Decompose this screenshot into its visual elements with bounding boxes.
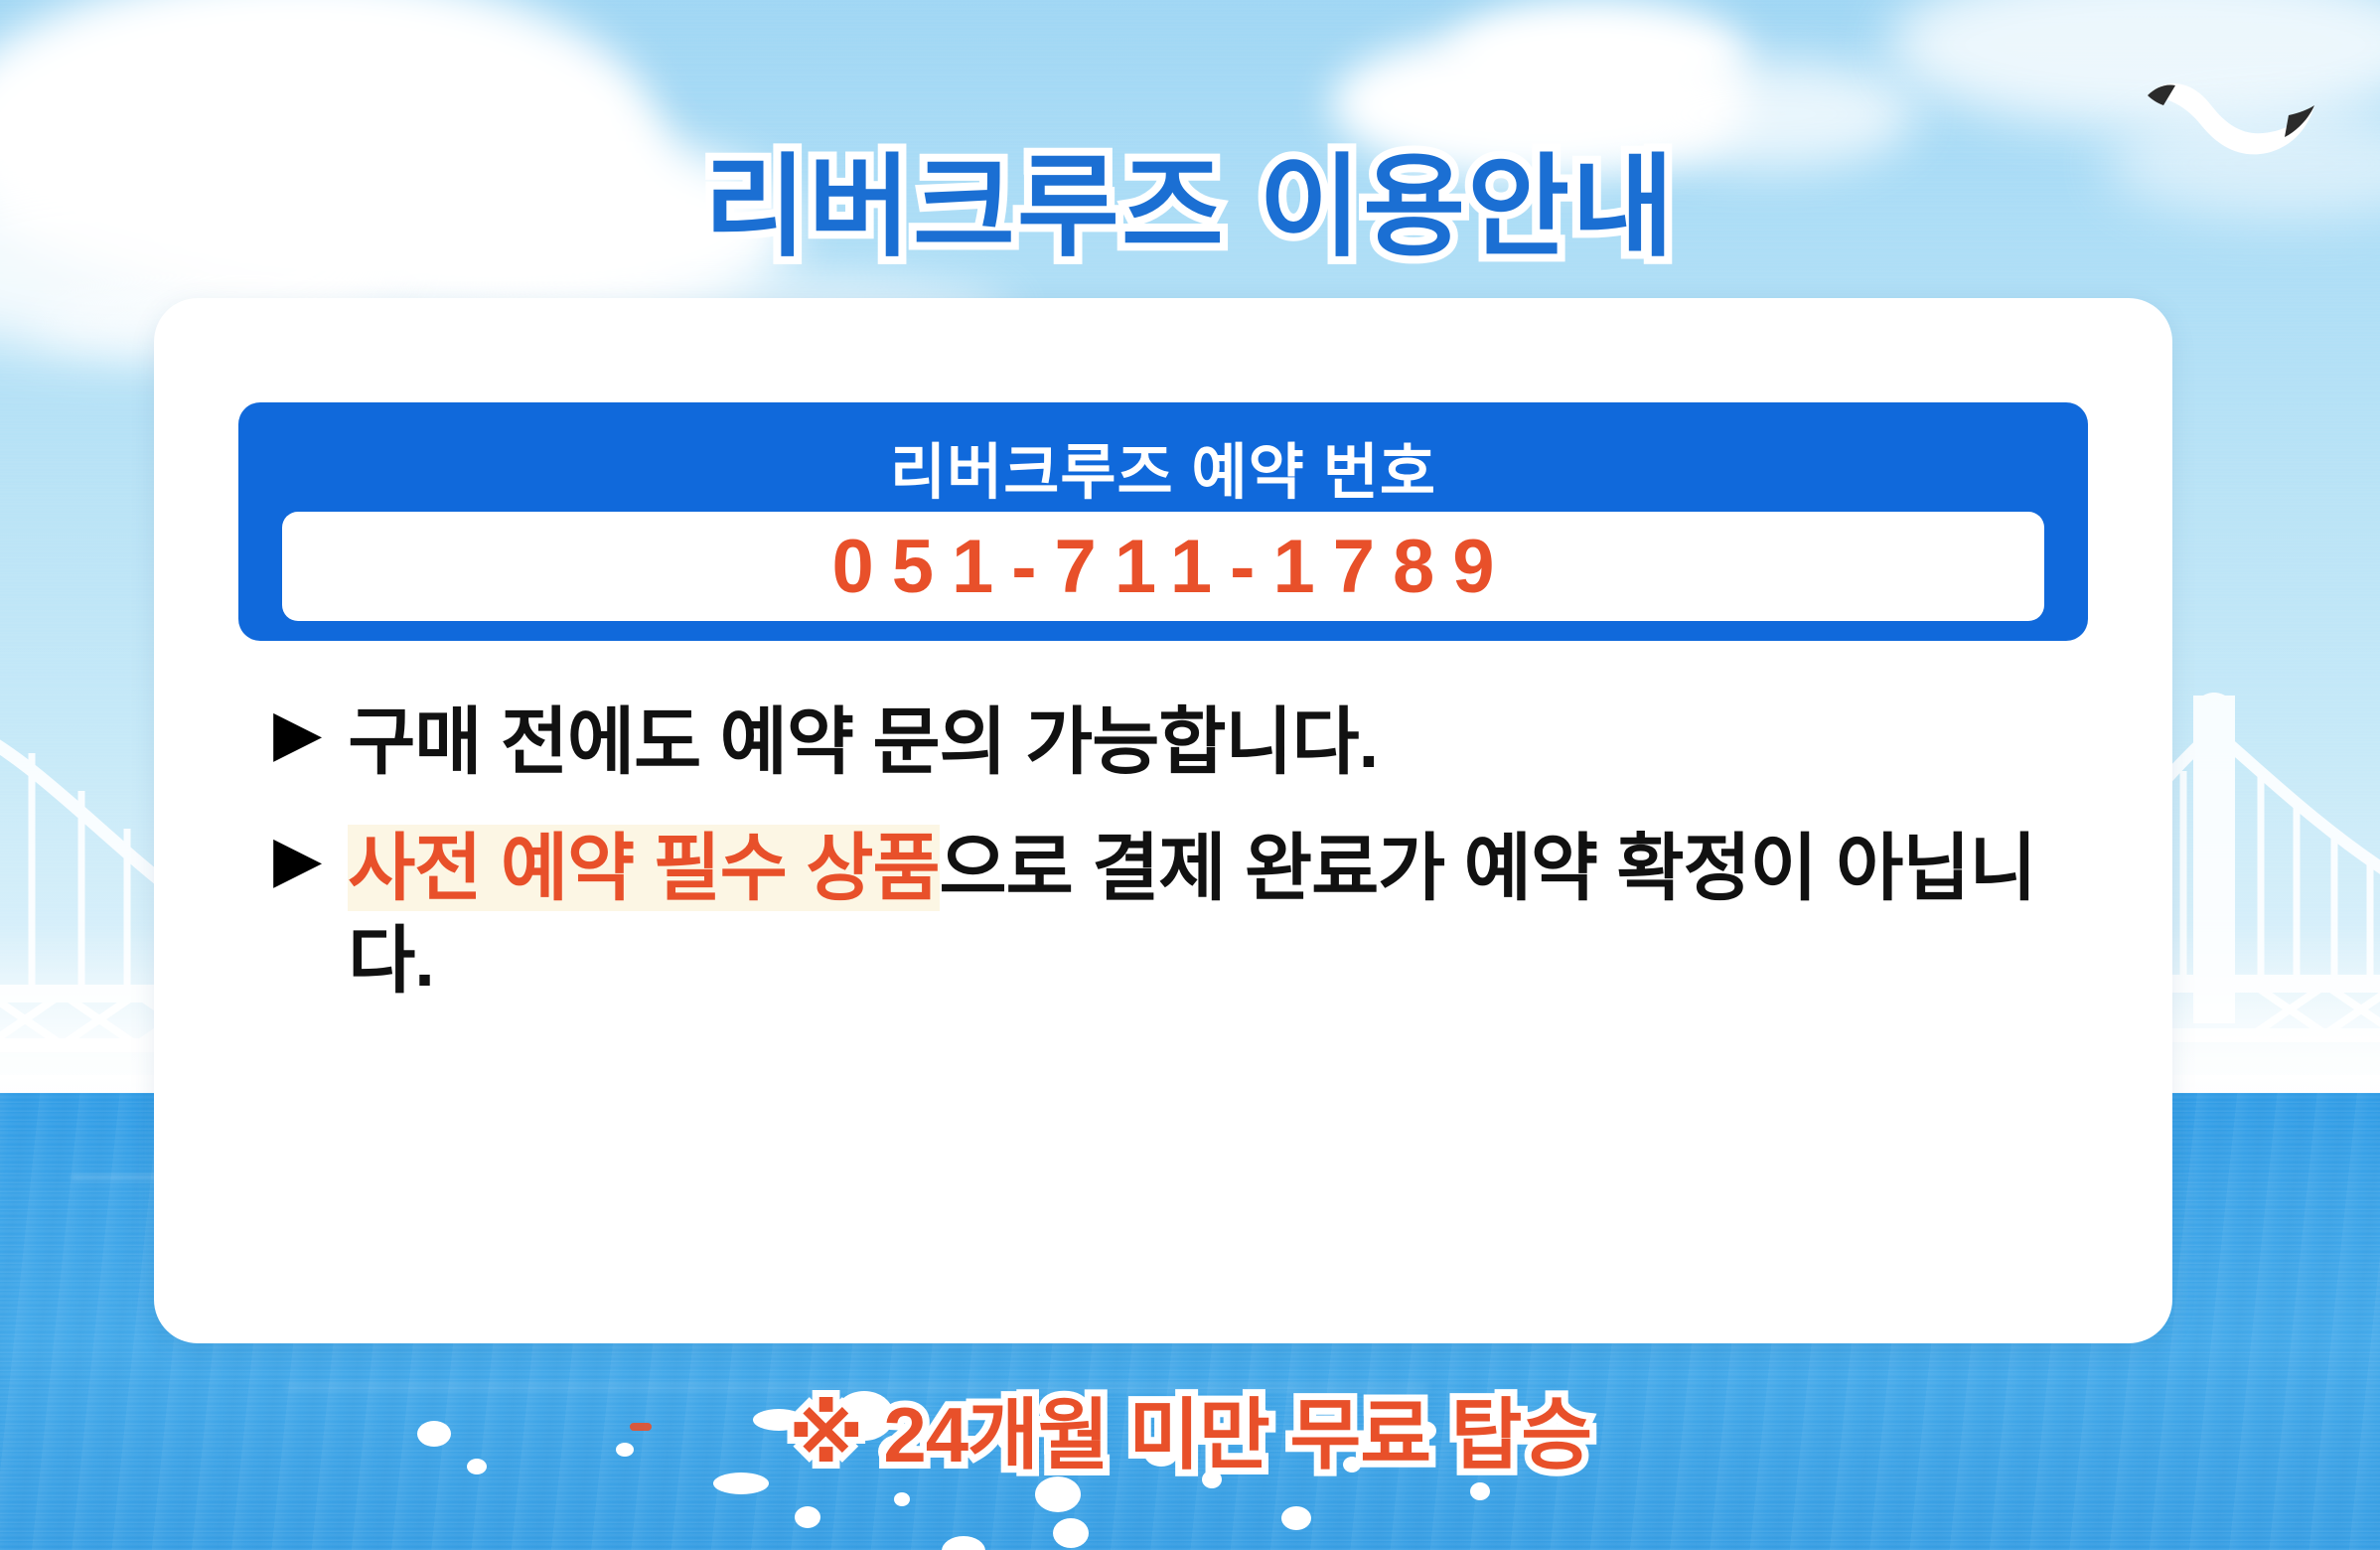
triangle-bullet-icon: ▶ <box>273 826 322 892</box>
foam-bubble <box>894 1492 910 1506</box>
notice-1-plain: 구매 전에도 예약 문의 가능합니다. <box>348 700 1378 783</box>
page-title: 리버크루즈 이용안내 <box>0 117 2380 278</box>
list-item: ▶ 사전 예약 필수 상품으로 결제 완료가 예약 확정이 아닙니다. <box>273 822 2091 1007</box>
foam-bubble <box>1053 1518 1089 1548</box>
foam-bubble <box>1281 1506 1311 1530</box>
notice-2-highlight: 사전 예약 필수 상품 <box>348 825 939 911</box>
notice-text-2: 사전 예약 필수 상품으로 결제 완료가 예약 확정이 아닙니다. <box>348 822 2091 1007</box>
poster-canvas: 리버크루즈 이용안내 리버크루즈 예약 번호 051-711-1789 ▶ 구매… <box>0 0 2380 1550</box>
foam-bubble <box>1470 1482 1490 1500</box>
reservation-phone-number[interactable]: 051-711-1789 <box>814 524 1512 610</box>
footer-note: ※ 24개월 미만 무료 탑승 <box>0 1373 2380 1484</box>
notice-list: ▶ 구매 전에도 예약 문의 가능합니다. ▶ 사전 예약 필수 상품으로 결제… <box>273 696 2091 1041</box>
notice-text-1: 구매 전에도 예약 문의 가능합니다. <box>348 696 1378 788</box>
reservation-box: 리버크루즈 예약 번호 051-711-1789 <box>238 402 2088 641</box>
reservation-number-plate: 051-711-1789 <box>282 512 2044 621</box>
list-item: ▶ 구매 전에도 예약 문의 가능합니다. <box>273 696 2091 788</box>
foam-bubble <box>795 1506 820 1528</box>
reservation-label: 리버크루즈 예약 번호 <box>238 422 2088 511</box>
triangle-bullet-icon: ▶ <box>273 699 322 766</box>
info-card: 리버크루즈 예약 번호 051-711-1789 ▶ 구매 전에도 예약 문의 … <box>154 298 2172 1343</box>
